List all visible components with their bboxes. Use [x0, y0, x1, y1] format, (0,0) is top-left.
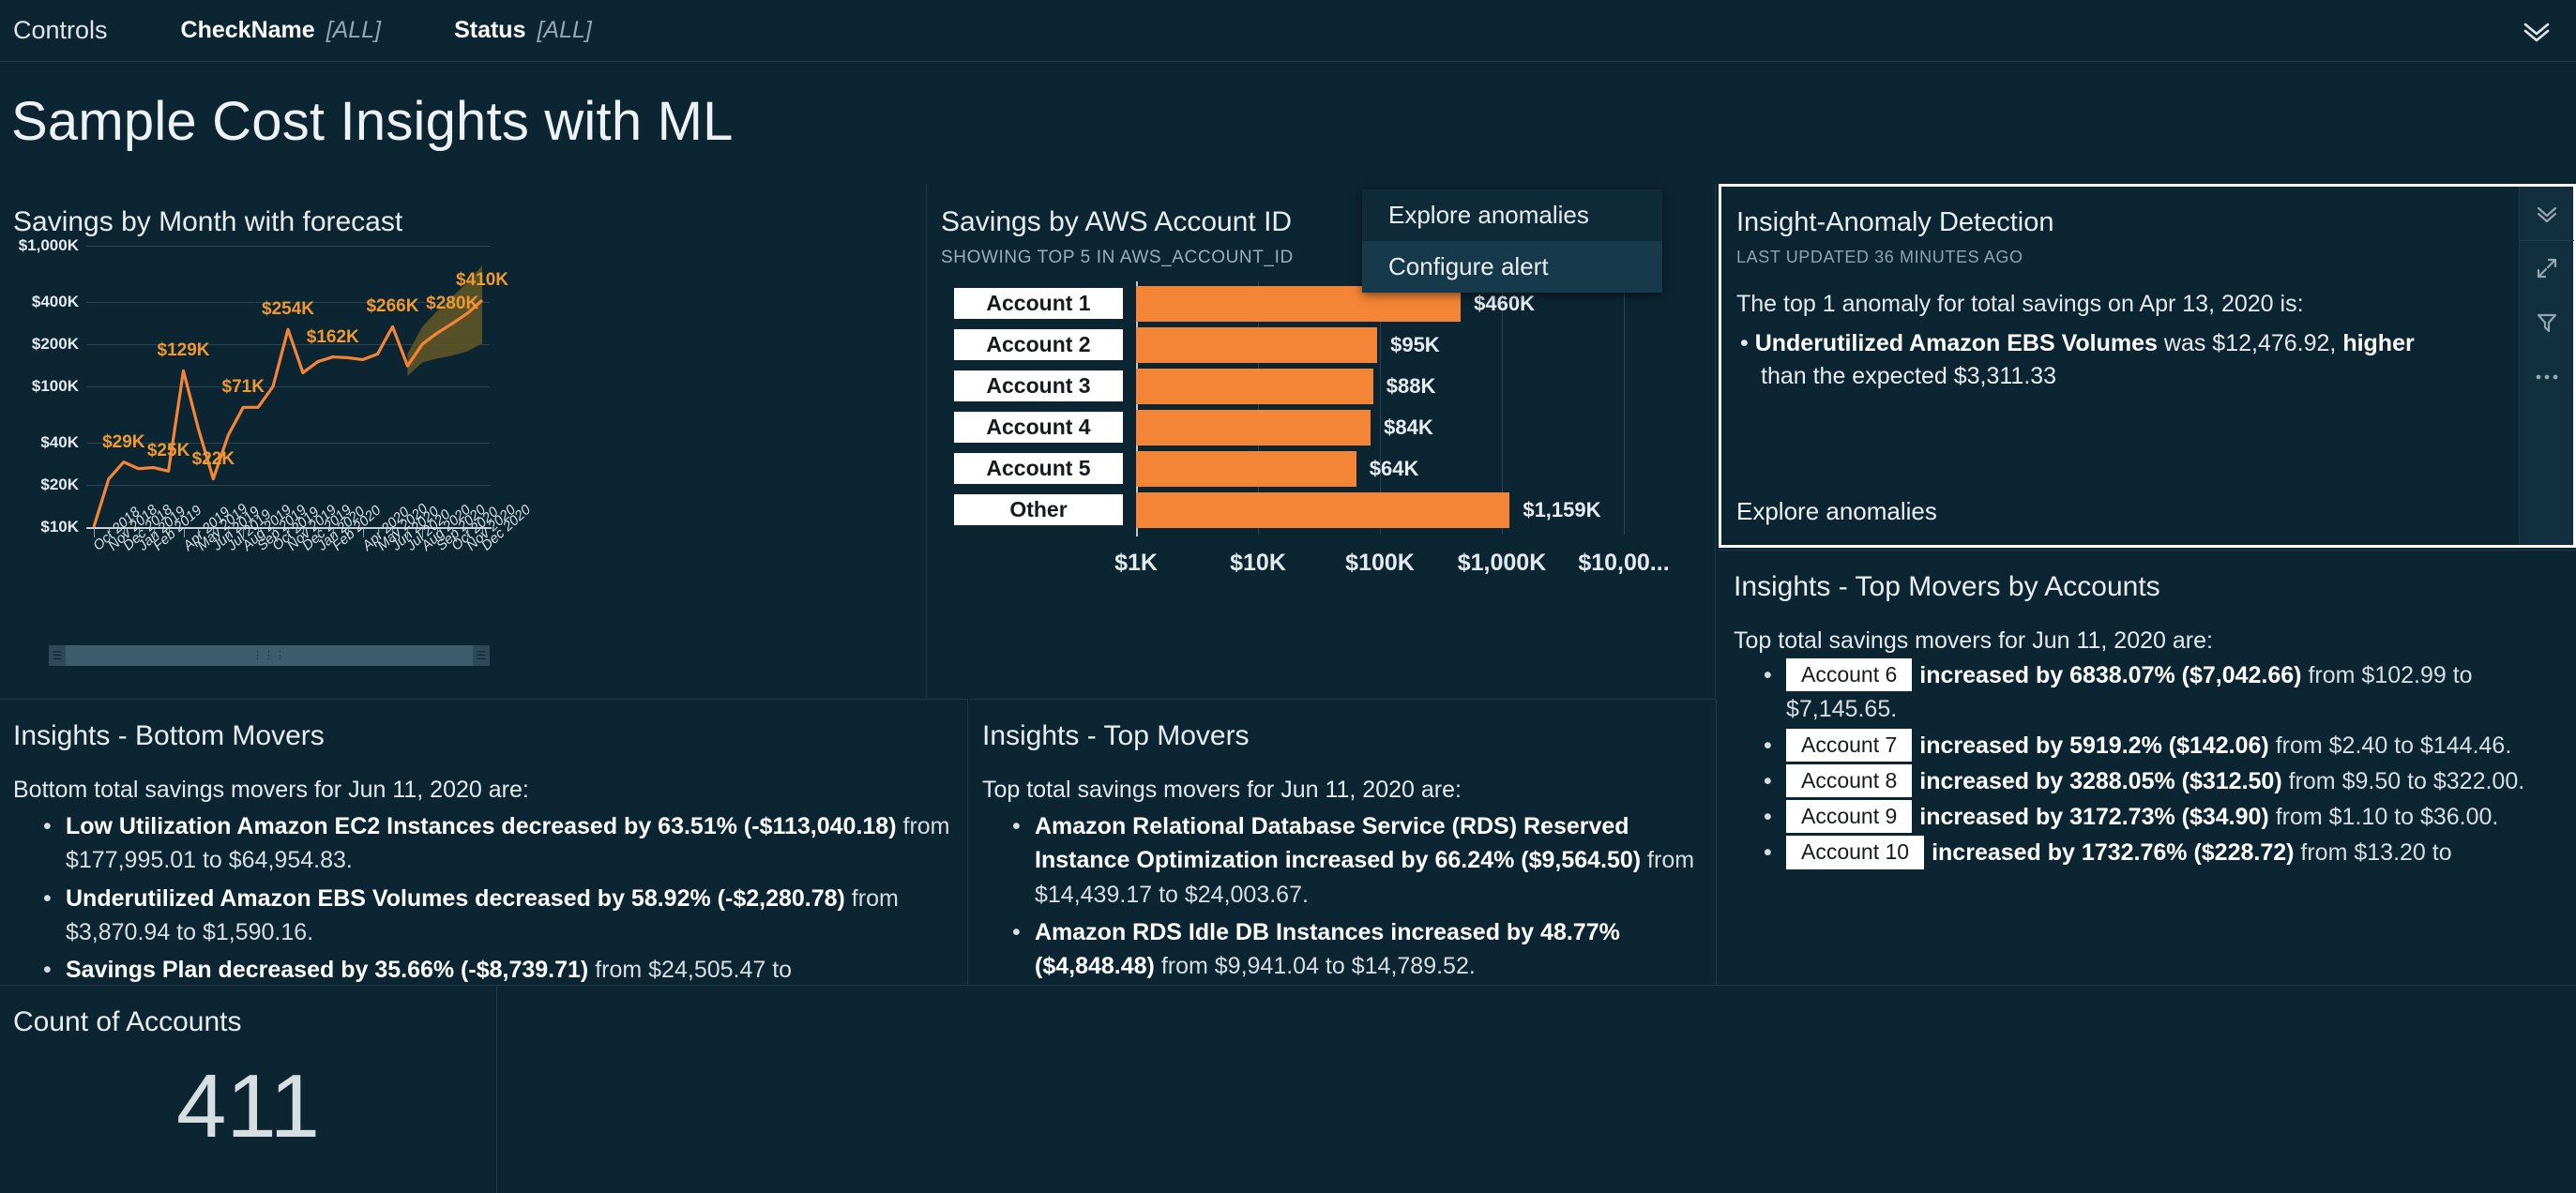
more-options-icon[interactable]: [2520, 350, 2574, 404]
controls-label: Controls: [13, 16, 108, 45]
bar-x-axis-label: $10,00...: [1578, 550, 1669, 577]
account-chip[interactable]: Account 6: [1786, 658, 1912, 691]
bar-x-axis-label: $10K: [1230, 550, 1286, 577]
account-chip[interactable]: Account 9: [1786, 800, 1912, 833]
data-point-label: $254K: [262, 299, 314, 320]
x-axis-tick: [482, 529, 483, 537]
list-item: Account 7increased by 5919.2% ($142.06) …: [1764, 729, 2576, 763]
x-axis-tick: [348, 529, 349, 537]
top-movers-title: Insights - Top Movers: [982, 720, 1716, 752]
bar-x-axis-label: $100K: [1345, 550, 1415, 577]
bar-x-axis-label: $1K: [1114, 550, 1158, 577]
account-chip[interactable]: Account 7: [1786, 729, 1912, 762]
data-point-label: $29K: [102, 432, 144, 453]
divider: [496, 986, 497, 1193]
data-point-label: $25K: [147, 441, 189, 461]
bar-value-label: $88K: [1386, 374, 1436, 399]
bar-row[interactable]: $1,159KOther: [928, 490, 1716, 531]
data-point-label: $162K: [307, 327, 359, 348]
y-axis-tick-label: $10K: [40, 518, 79, 536]
x-axis-tick: [303, 529, 304, 537]
mover-headline: Underutilized Amazon EBS Volumes decreas…: [66, 885, 845, 912]
bar-row[interactable]: $95KAccount 2: [928, 325, 1716, 366]
x-axis-tick: [288, 529, 289, 537]
filter-checkname-value[interactable]: [ALL]: [326, 17, 381, 44]
savings-by-month-panel: Savings by Month with forecast $10K$20K$…: [0, 184, 927, 698]
anomaly-title: Insight-Anomaly Detection: [1736, 207, 2573, 238]
range-value: from $1.10 to $36.00.: [2269, 804, 2499, 830]
anomaly-widget-toolbar: [2519, 187, 2573, 545]
anomaly-bullet: • Underutilized Amazon EBS Volumes was $…: [1761, 327, 2455, 394]
x-axis-tick: [94, 529, 95, 537]
bar[interactable]: [1136, 410, 1371, 445]
list-item: Account 8increased by 3288.05% ($312.50)…: [1764, 764, 2576, 798]
anomaly-context-menu[interactable]: Explore anomalies Configure alert: [1362, 189, 1662, 293]
mover-headline: Savings Plan decreased by 35.66% (-$8,73…: [66, 957, 588, 983]
top-movers-by-accounts-list: Account 6increased by 6838.07% ($7,042.6…: [1764, 658, 2576, 870]
mover-headline: Low Utilization Amazon EC2 Instances dec…: [66, 813, 897, 839]
bar-value-label: $95K: [1390, 333, 1440, 357]
x-axis-tick: [333, 529, 334, 537]
y-axis-tick-label: $1,000K: [19, 236, 79, 255]
range-value: from $9.50 to $322.00.: [2282, 768, 2525, 794]
line-chart-scrollbar[interactable]: ☰ ⋮⋮⋮ ☰: [49, 645, 490, 666]
bar[interactable]: [1136, 492, 1509, 528]
scrollbar-grip[interactable]: ⋮⋮⋮: [252, 653, 286, 658]
x-axis-tick: [273, 529, 274, 537]
range-value: from $13.20 to: [2294, 839, 2451, 866]
bar-category-label[interactable]: Account 3: [954, 370, 1123, 401]
bottom-movers-panel: Insights - Bottom Movers Bottom total sa…: [0, 699, 968, 985]
x-axis-tick: [124, 529, 125, 537]
line-chart-y-axis: $10K$20K$40K$100K$200K$400K$1,000K: [0, 246, 79, 527]
menu-item-configure-alert[interactable]: Configure alert: [1362, 241, 1662, 293]
bar[interactable]: [1136, 369, 1373, 404]
bar-x-axis-label: $1,000K: [1458, 550, 1547, 577]
account-chip[interactable]: Account 8: [1786, 764, 1912, 797]
change-value: increased by 5919.2% ($142.06): [1919, 732, 2268, 759]
y-axis-tick-label: $40K: [40, 433, 79, 452]
chevron-double-down-icon[interactable]: [2518, 12, 2555, 50]
bar-row[interactable]: $88KAccount 3: [928, 366, 1716, 407]
data-point-label: $280K: [426, 294, 478, 314]
data-point-label: $129K: [158, 340, 210, 361]
count-of-accounts-value: 411: [0, 1055, 496, 1158]
list-item: Underutilized Amazon EBS Volumes decreas…: [43, 882, 967, 950]
y-axis-tick-label: $400K: [32, 293, 79, 311]
anomaly-intro: The top 1 anomaly for total savings on A…: [1736, 288, 2459, 322]
list-item: Account 6increased by 6838.07% ($7,042.6…: [1764, 658, 2576, 727]
anomaly-actual-value: was $12,476.92,: [2158, 330, 2342, 356]
menu-item-explore-anomalies[interactable]: Explore anomalies: [1362, 189, 1662, 241]
chevron-double-down-icon[interactable]: [2520, 187, 2574, 241]
list-item: Amazon Relational Database Service (RDS)…: [1012, 809, 1716, 912]
x-axis-tick: [169, 529, 170, 537]
bar-category-label[interactable]: Account 1: [954, 288, 1123, 319]
data-point-label: $266K: [366, 296, 418, 317]
bar[interactable]: [1136, 327, 1377, 363]
bar-value-label: $1,159K: [1523, 498, 1600, 522]
bar-category-label[interactable]: Account 5: [954, 453, 1123, 484]
top-movers-by-accounts-panel: Insights - Top Movers by Accounts Top to…: [1719, 550, 2576, 962]
list-item: Account 9increased by 3172.73% ($34.90) …: [1764, 800, 2576, 834]
anomaly-last-updated: LAST UPDATED 36 MINUTES AGO: [1736, 248, 2573, 267]
top-movers-panel: Insights - Top Movers Top total savings …: [969, 699, 1717, 985]
line-chart[interactable]: $10K$20K$40K$100K$200K$400K$1,000K $29K$…: [0, 246, 927, 640]
controls-bar: Controls CheckName [ALL] Status [ALL]: [0, 0, 2576, 62]
x-axis-tick: [318, 529, 319, 537]
y-axis-tick-label: $20K: [40, 476, 79, 494]
mover-range: from $9,941.04 to $14,789.52.: [1155, 953, 1476, 979]
x-axis-tick: [109, 529, 110, 537]
anomaly-detection-panel: Insight-Anomaly Detection LAST UPDATED 3…: [1719, 184, 2576, 548]
bar-category-label[interactable]: Account 2: [954, 329, 1123, 360]
bottom-movers-intro: Bottom total savings movers for Jun 11, …: [13, 777, 967, 804]
count-of-accounts-panel: Count of Accounts 411: [0, 986, 496, 1193]
data-point-label: $410K: [456, 270, 508, 291]
range-value: from $2.40 to $144.46.: [2269, 732, 2512, 759]
x-axis-tick: [139, 529, 140, 537]
data-point-label: $22K: [192, 449, 235, 470]
bottom-movers-list: Low Utilization Amazon EC2 Instances dec…: [43, 809, 967, 985]
filter-status-value[interactable]: [ALL]: [537, 17, 591, 44]
x-axis-tick: [184, 529, 185, 537]
data-point-label: $71K: [222, 377, 265, 398]
bar-value-label: $84K: [1384, 415, 1433, 440]
y-axis-tick-label: $200K: [32, 335, 79, 354]
anomaly-expected-value: than the expected $3,311.33: [1761, 363, 2056, 389]
change-value: increased by 3288.05% ($312.50): [1919, 768, 2281, 794]
filter-status[interactable]: Status [ALL]: [454, 17, 592, 44]
filter-icon[interactable]: [2520, 295, 2574, 350]
top-movers-by-accounts-title: Insights - Top Movers by Accounts: [1734, 571, 2576, 603]
top-movers-intro: Top total savings movers for Jun 11, 202…: [982, 777, 1716, 804]
filter-checkname[interactable]: CheckName [ALL]: [181, 17, 382, 44]
y-axis-tick-label: $100K: [32, 377, 79, 396]
count-of-accounts-title: Count of Accounts: [13, 1006, 496, 1038]
bar-row[interactable]: $84KAccount 4: [928, 407, 1716, 448]
bottom-movers-title: Insights - Bottom Movers: [13, 720, 967, 752]
x-axis-tick: [154, 529, 155, 537]
top-movers-by-accounts-intro: Top total savings movers for Jun 11, 202…: [1734, 627, 2576, 655]
scrollbar-right-handle[interactable]: ☰: [473, 645, 490, 666]
list-item: Amazon RDS Idle DB Instances increased b…: [1012, 915, 1716, 984]
bar-category-label[interactable]: Other: [954, 494, 1123, 525]
top-movers-list: Amazon Relational Database Service (RDS)…: [1012, 809, 1716, 983]
explore-anomalies-link[interactable]: Explore anomalies: [1736, 497, 1937, 526]
change-value: increased by 1732.76% ($228.72): [1932, 839, 2294, 866]
page-title: Sample Cost Insights with ML: [11, 90, 734, 153]
filter-status-label: Status: [454, 17, 525, 44]
bar-chart[interactable]: $1K$10K$100K$1,000K$10,00...$460KAccount…: [928, 281, 1716, 591]
bar[interactable]: [1136, 451, 1356, 487]
mover-range: from $24,505.47 to: [588, 957, 792, 983]
scrollbar-left-handle[interactable]: ☰: [49, 645, 66, 666]
change-value: increased by 3172.73% ($34.90): [1919, 804, 2268, 830]
x-axis-tick: [378, 529, 379, 537]
anomaly-direction: higher: [2342, 330, 2414, 356]
bar-value-label: $460K: [1474, 292, 1535, 316]
list-item: Account 10increased by 1732.76% ($228.72…: [1764, 836, 2576, 869]
bar-category-label[interactable]: Account 4: [954, 412, 1123, 443]
list-item: Low Utilization Amazon EC2 Instances dec…: [43, 809, 967, 878]
mover-headline: Amazon Relational Database Service (RDS)…: [1035, 813, 1641, 873]
anomaly-metric-name: Underutilized Amazon EBS Volumes: [1755, 330, 2158, 356]
list-item: Savings Plan decreased by 35.66% (-$8,73…: [43, 953, 967, 985]
account-chip[interactable]: Account 10: [1786, 836, 1924, 868]
expand-icon[interactable]: [2520, 241, 2574, 295]
bar-row[interactable]: $64KAccount 5: [928, 448, 1716, 490]
change-value: increased by 6838.07% ($7,042.66): [1919, 662, 2301, 688]
filter-checkname-label: CheckName: [181, 17, 315, 44]
savings-by-month-title: Savings by Month with forecast: [13, 206, 926, 238]
line-series: [86, 246, 490, 527]
bar-value-label: $64K: [1370, 457, 1419, 481]
x-axis-tick: [363, 529, 364, 537]
line-chart-plot: $29K$25K$129K$22K$71K$254K$162K$266K$280…: [86, 246, 490, 527]
